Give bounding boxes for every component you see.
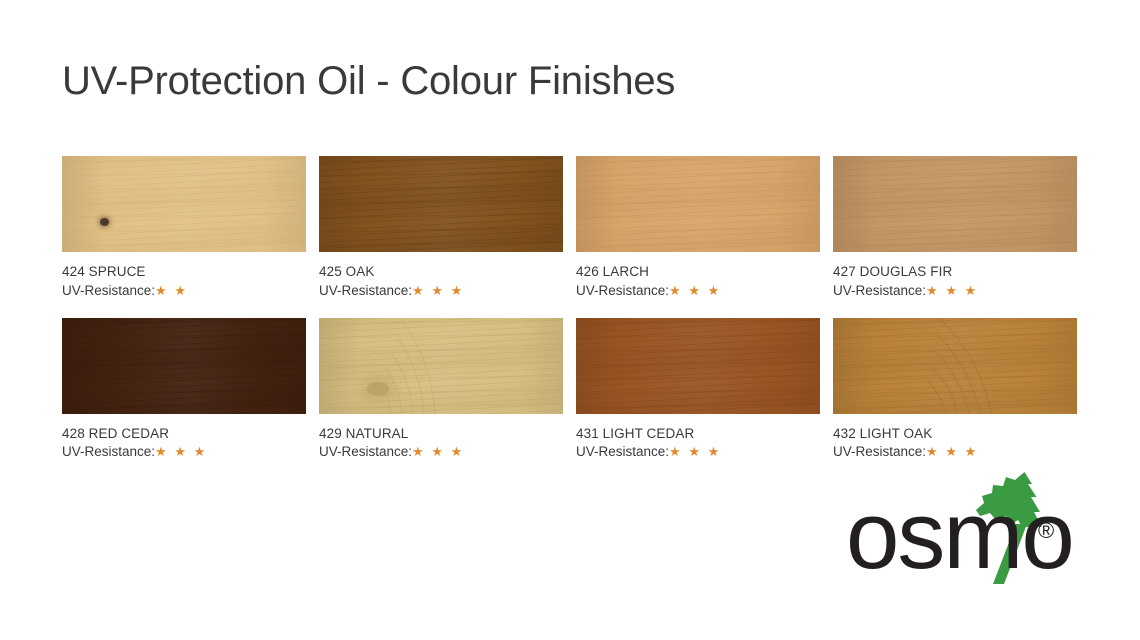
swatch-name: 427 DOUGLAS FIR <box>833 263 1077 281</box>
swatch-card[interactable]: 428 RED CEDARUV-Resistance:★ ★ ★ <box>62 318 306 462</box>
swatch-name: 426 LARCH <box>576 263 820 281</box>
swatch-name: 432 LIGHT OAK <box>833 425 1077 443</box>
uv-resistance-label: UV-Resistance: <box>833 283 926 298</box>
wood-grain-texture <box>62 318 306 414</box>
uv-resistance-row: UV-Resistance:★ ★ ★ <box>833 443 1077 461</box>
uv-resistance-stars: ★ ★ ★ <box>412 283 464 298</box>
uv-resistance-label: UV-Resistance: <box>576 283 669 298</box>
swatch-caption: 424 SPRUCEUV-Resistance:★ ★ <box>62 263 306 300</box>
swatch-name: 424 SPRUCE <box>62 263 306 281</box>
swatch-card[interactable]: 425 OAKUV-Resistance:★ ★ ★ <box>319 156 563 300</box>
uv-resistance-label: UV-Resistance: <box>62 444 155 459</box>
uv-resistance-label: UV-Resistance: <box>576 444 669 459</box>
registered-mark: ® <box>1038 518 1054 543</box>
swatch-caption: 425 OAKUV-Resistance:★ ★ ★ <box>319 263 563 300</box>
wood-swatch-image[interactable] <box>833 318 1077 414</box>
osmo-logo-svg: osmo ® <box>846 466 1086 584</box>
swatch-card[interactable]: 424 SPRUCEUV-Resistance:★ ★ <box>62 156 306 300</box>
wood-swatch-image[interactable] <box>576 318 820 414</box>
swatch-caption: 432 LIGHT OAKUV-Resistance:★ ★ ★ <box>833 425 1077 462</box>
uv-resistance-row: UV-Resistance:★ ★ ★ <box>576 282 820 300</box>
swatch-card[interactable]: 432 LIGHT OAKUV-Resistance:★ ★ ★ <box>833 318 1077 462</box>
swatch-caption: 431 LIGHT CEDARUV-Resistance:★ ★ ★ <box>576 425 820 462</box>
wood-swatch-image[interactable] <box>319 318 563 414</box>
uv-resistance-row: UV-Resistance:★ ★ ★ <box>62 443 306 461</box>
uv-resistance-row: UV-Resistance:★ ★ ★ <box>576 443 820 461</box>
wood-swatch-image[interactable] <box>319 156 563 252</box>
uv-resistance-row: UV-Resistance:★ ★ ★ <box>319 282 563 300</box>
wood-swatch-image[interactable] <box>62 318 306 414</box>
uv-resistance-stars: ★ ★ <box>155 283 188 298</box>
wood-grain-texture <box>576 156 820 252</box>
wood-knot <box>100 218 109 226</box>
swatch-name: 431 LIGHT CEDAR <box>576 425 820 443</box>
swatch-card[interactable]: 431 LIGHT CEDARUV-Resistance:★ ★ ★ <box>576 318 820 462</box>
swatch-caption: 427 DOUGLAS FIRUV-Resistance:★ ★ ★ <box>833 263 1077 300</box>
swatch-card[interactable]: 429 NATURALUV-Resistance:★ ★ ★ <box>319 318 563 462</box>
uv-resistance-stars: ★ ★ ★ <box>926 283 978 298</box>
osmo-logo: osmo ® <box>846 466 1086 584</box>
colour-finish-grid: 424 SPRUCEUV-Resistance:★ ★425 OAKUV-Res… <box>62 156 1078 461</box>
swatch-name: 428 RED CEDAR <box>62 425 306 443</box>
wood-grain-texture <box>576 318 820 414</box>
uv-resistance-stars: ★ ★ ★ <box>926 444 978 459</box>
swatch-caption: 428 RED CEDARUV-Resistance:★ ★ ★ <box>62 425 306 462</box>
wood-grain-texture <box>833 156 1077 252</box>
uv-resistance-label: UV-Resistance: <box>319 283 412 298</box>
wood-grain-texture <box>62 156 306 252</box>
wood-grain-texture <box>319 156 563 252</box>
swatch-caption: 426 LARCHUV-Resistance:★ ★ ★ <box>576 263 820 300</box>
uv-resistance-stars: ★ ★ ★ <box>412 444 464 459</box>
wood-swatch-image[interactable] <box>62 156 306 252</box>
swatch-card[interactable]: 427 DOUGLAS FIRUV-Resistance:★ ★ ★ <box>833 156 1077 300</box>
wood-swatch-image[interactable] <box>576 156 820 252</box>
uv-resistance-label: UV-Resistance: <box>833 444 926 459</box>
uv-resistance-stars: ★ ★ ★ <box>155 444 207 459</box>
wood-swatch-image[interactable] <box>833 156 1077 252</box>
uv-resistance-label: UV-Resistance: <box>319 444 412 459</box>
swatch-name: 425 OAK <box>319 263 563 281</box>
swatch-caption: 429 NATURALUV-Resistance:★ ★ ★ <box>319 425 563 462</box>
uv-resistance-label: UV-Resistance: <box>62 283 155 298</box>
uv-resistance-row: UV-Resistance:★ ★ <box>62 282 306 300</box>
uv-resistance-stars: ★ ★ ★ <box>669 283 721 298</box>
swatch-name: 429 NATURAL <box>319 425 563 443</box>
page-title: UV-Protection Oil - Colour Finishes <box>62 59 675 104</box>
swatch-card[interactable]: 426 LARCHUV-Resistance:★ ★ ★ <box>576 156 820 300</box>
uv-resistance-stars: ★ ★ ★ <box>669 444 721 459</box>
uv-resistance-row: UV-Resistance:★ ★ ★ <box>833 282 1077 300</box>
uv-resistance-row: UV-Resistance:★ ★ ★ <box>319 443 563 461</box>
